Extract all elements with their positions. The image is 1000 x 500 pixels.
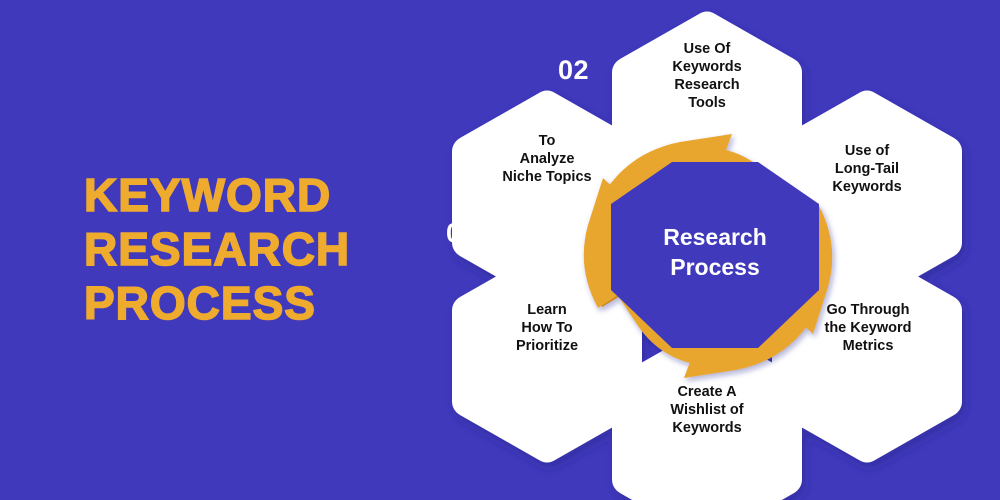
step-number-03: 03 bbox=[770, 57, 801, 84]
center-process-label: Research Process bbox=[615, 222, 815, 282]
step-number-04: 04 bbox=[870, 264, 901, 291]
process-diagram: To Analyze Niche Topics Use Of Keywords … bbox=[430, 0, 1000, 500]
step-number-01: 01 bbox=[446, 220, 477, 247]
step-number-02: 02 bbox=[558, 57, 589, 84]
page-title-line-3: PROCESS bbox=[84, 276, 424, 330]
page-title-line-1: KEYWORD bbox=[84, 168, 424, 222]
infographic-canvas: KEYWORD RESEARCH PROCESS bbox=[0, 0, 1000, 500]
step-number-06: 06 bbox=[542, 412, 573, 439]
page-title-line-2: RESEARCH bbox=[84, 222, 424, 276]
page-title: KEYWORD RESEARCH PROCESS bbox=[84, 168, 424, 330]
step-number-05: 05 bbox=[764, 412, 795, 439]
